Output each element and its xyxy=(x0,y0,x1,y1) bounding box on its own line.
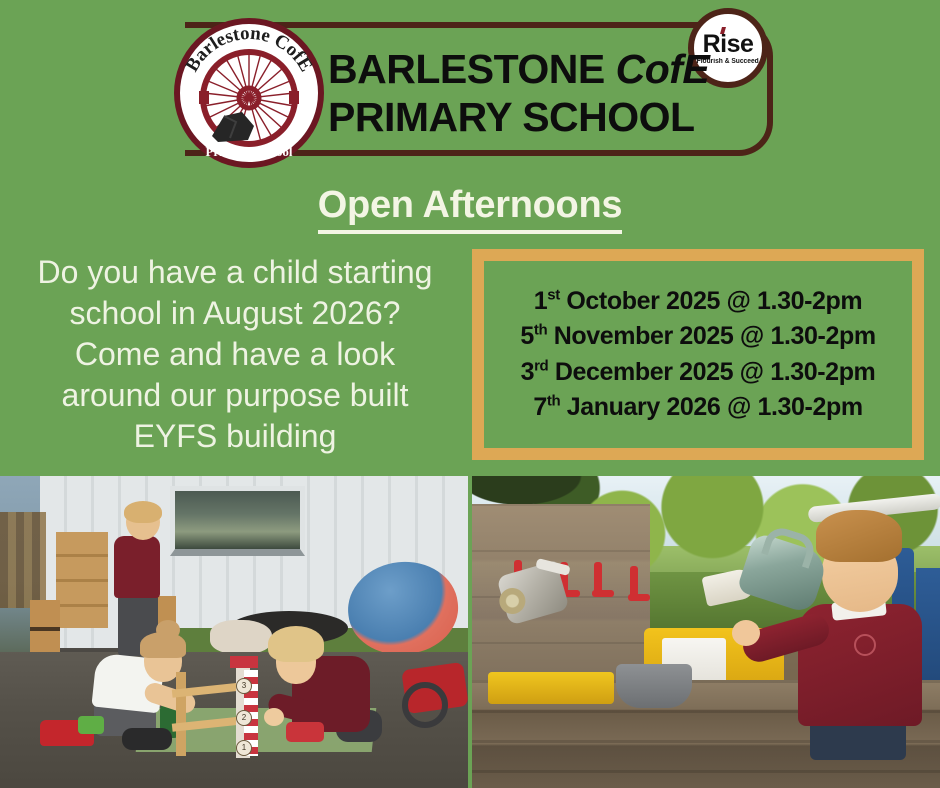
photo-strip: 3 2 1 xyxy=(0,476,940,788)
date-item: 5th November 2025 @ 1.30-2pm xyxy=(520,319,875,355)
open-afternoons-poster: Barlestone CofE Primary School Rise Flou… xyxy=(0,0,940,788)
school-name: BARLESTONE CofE PRIMARY SCHOOL xyxy=(328,46,709,141)
intro-line-5: EYFS building xyxy=(6,416,464,457)
photo-ramp-number: 2 xyxy=(236,710,252,726)
photo-hook xyxy=(628,594,650,601)
school-name-cofe: CofE xyxy=(616,46,710,92)
photo-boy-hair xyxy=(816,510,902,562)
photo-trike-wheel xyxy=(402,682,448,728)
intro-line-4: around our purpose built xyxy=(6,375,464,416)
dates-list: 1st October 2025 @ 1.30-2pm 5th November… xyxy=(484,261,912,448)
date-day: 7 xyxy=(533,393,547,421)
school-name-main: BARLESTONE xyxy=(328,46,605,92)
photo-child-hair xyxy=(268,626,324,662)
body-row: Do you have a child starting school in A… xyxy=(0,246,940,471)
date-item: 3rd December 2025 @ 1.30-2pm xyxy=(521,355,876,391)
photo-toy-car-ramp: 3 2 1 xyxy=(170,662,270,758)
date-day: 5 xyxy=(520,322,534,350)
date-ordinal: th xyxy=(534,322,547,339)
photo-fence xyxy=(0,512,46,608)
photo-boy-pouring-water xyxy=(472,476,940,788)
photo-toy-car xyxy=(78,716,104,734)
photo-boy-hand xyxy=(732,620,760,646)
intro-line-1: Do you have a child starting xyxy=(6,252,464,293)
date-day: 1 xyxy=(534,287,548,315)
rise-wordmark: Rise xyxy=(703,32,754,57)
photo-child-kneeling xyxy=(262,626,392,756)
photo-child-shoe xyxy=(122,728,172,750)
intro-line-2: school in August 2026? xyxy=(6,293,464,334)
school-name-line-1: BARLESTONE CofE xyxy=(328,46,709,94)
date-rest: October 2025 @ 1.30-2pm xyxy=(560,287,862,315)
photo-hook xyxy=(592,590,614,597)
photo-window xyxy=(170,486,305,556)
photo-ramp-post xyxy=(176,672,186,756)
photo-yellow-tray xyxy=(488,672,614,704)
photo-child-hair-bun xyxy=(156,620,180,640)
photo-child-hand xyxy=(264,708,284,726)
date-rest: December 2025 @ 1.30-2pm xyxy=(548,358,875,386)
photo-toy-car xyxy=(286,722,324,742)
photo-boy-school-badge xyxy=(854,634,876,656)
date-ordinal: st xyxy=(547,286,560,303)
dates-box: 1st October 2025 @ 1.30-2pm 5th November… xyxy=(472,249,924,460)
date-ordinal: rd xyxy=(534,357,548,374)
date-item: 1st October 2025 @ 1.30-2pm xyxy=(534,284,862,320)
photo-grey-bowl xyxy=(616,664,692,708)
photo-child-jumper xyxy=(114,536,160,598)
photo-ramp-flag xyxy=(230,656,258,668)
date-rest: November 2025 @ 1.30-2pm xyxy=(547,322,875,350)
photo-child-hair xyxy=(124,501,162,523)
date-item: 7th January 2026 @ 1.30-2pm xyxy=(533,390,862,426)
school-crest: Barlestone CofE Primary School xyxy=(174,18,324,168)
intro-line-3: Come and have a look xyxy=(6,334,464,375)
page-title: Open Afternoons xyxy=(0,184,940,227)
photo-crate xyxy=(56,532,108,628)
page-title-text: Open Afternoons xyxy=(318,184,622,234)
photo-children-playing-toy-ramp: 3 2 1 xyxy=(0,476,468,788)
crest-bottom-text: Primary School xyxy=(205,144,292,159)
date-ordinal: th xyxy=(547,393,560,410)
school-name-line-2: PRIMARY SCHOOL xyxy=(328,94,709,142)
rise-word-text: Rise xyxy=(703,30,754,58)
intro-copy: Do you have a child starting school in A… xyxy=(6,252,464,457)
photo-ramp-number: 3 xyxy=(236,678,252,694)
poster-header: Barlestone CofE Primary School Rise Flou… xyxy=(0,0,940,176)
date-rest: January 2026 @ 1.30-2pm xyxy=(560,393,862,421)
date-day: 3 xyxy=(521,358,535,386)
photo-ramp-number: 1 xyxy=(236,740,252,756)
